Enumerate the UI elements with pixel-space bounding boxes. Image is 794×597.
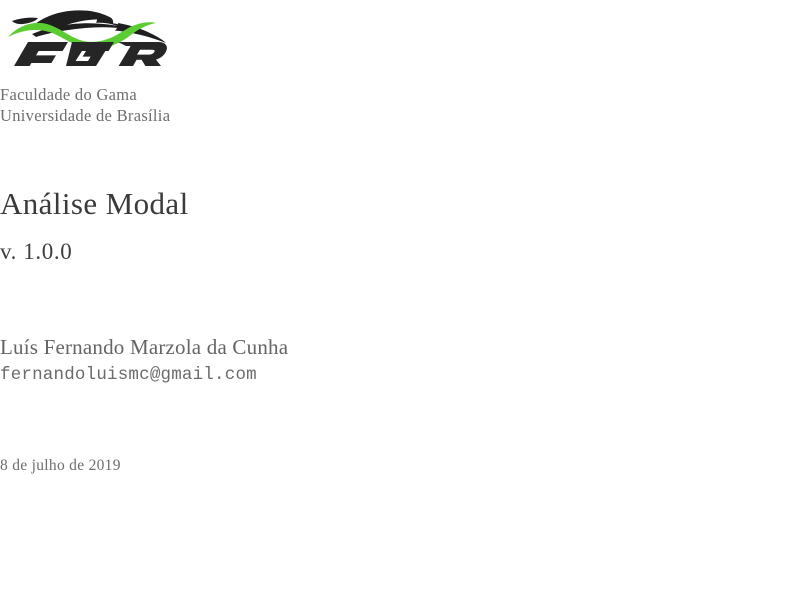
title-slide: Faculdade do Gama Universidade de Brasíl… xyxy=(0,0,794,597)
institution-line-1: Faculdade do Gama xyxy=(0,84,794,105)
institution-line-2: Universidade de Brasília xyxy=(0,105,794,126)
institution-block: Faculdade do Gama Universidade de Brasíl… xyxy=(0,84,794,126)
date-label: 8 de julho de 2019 xyxy=(0,456,794,476)
version-label: v. 1.0.0 xyxy=(0,238,794,266)
fgr-logo xyxy=(6,4,190,66)
author-email: fernandoluismc@gmail.com xyxy=(0,363,794,387)
fgr-logo-artwork xyxy=(6,4,190,66)
fgr-wordmark xyxy=(14,42,167,66)
author-name: Luís Fernando Marzola da Cunha xyxy=(0,334,794,360)
page-title: Análise Modal xyxy=(0,186,794,222)
